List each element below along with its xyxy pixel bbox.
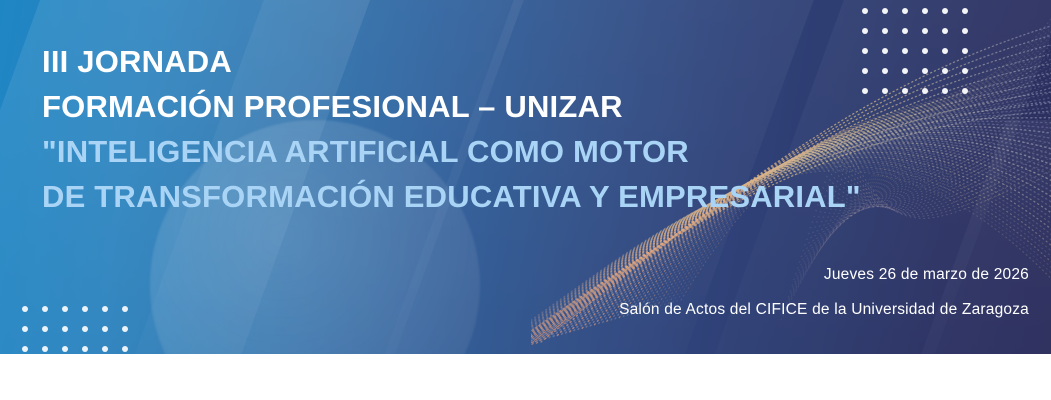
grid-dot <box>922 28 928 34</box>
grid-dot <box>22 306 28 312</box>
grid-dot <box>962 28 968 34</box>
grid-dot <box>42 306 48 312</box>
event-venue: Salón de Actos del CIFICE de la Universi… <box>619 301 1029 319</box>
grid-dot <box>902 28 908 34</box>
headline-line-2: FORMACIÓN PROFESIONAL – UNIZAR <box>42 91 861 122</box>
event-poster: III JORNADA FORMACIÓN PROFESIONAL – UNIZ… <box>0 0 1051 400</box>
grid-dot <box>862 88 868 94</box>
grid-dot <box>942 68 948 74</box>
grid-dot <box>122 346 128 352</box>
dot-grid-bottom-left <box>22 306 142 354</box>
grid-dot <box>862 28 868 34</box>
grid-dot <box>902 8 908 14</box>
grid-dot <box>962 68 968 74</box>
grid-dot <box>62 346 68 352</box>
grid-dot <box>962 88 968 94</box>
grid-dot <box>922 68 928 74</box>
grid-dot <box>902 88 908 94</box>
grid-dot <box>862 8 868 14</box>
grid-dot <box>962 8 968 14</box>
grid-dot <box>22 346 28 352</box>
grid-dot <box>102 326 108 332</box>
grid-dot <box>42 346 48 352</box>
grid-dot <box>862 68 868 74</box>
grid-dot <box>942 8 948 14</box>
wave-line <box>836 147 1051 212</box>
grid-dot <box>122 306 128 312</box>
grid-dot <box>922 48 928 54</box>
grid-dot <box>42 326 48 332</box>
grid-dot <box>902 68 908 74</box>
poster-headline: III JORNADA FORMACIÓN PROFESIONAL – UNIZ… <box>42 46 861 226</box>
grid-dot <box>922 88 928 94</box>
grid-dot <box>942 48 948 54</box>
dot-grid-top-right <box>862 8 982 108</box>
sponsor-footer: Organiza cpi'fp <box>0 354 1051 400</box>
headline-line-3: "INTELIGENCIA ARTIFICIAL COMO MOTOR <box>42 136 861 167</box>
grid-dot <box>922 8 928 14</box>
grid-dot <box>942 28 948 34</box>
grid-dot <box>882 68 888 74</box>
grid-dot <box>882 48 888 54</box>
grid-dot <box>902 48 908 54</box>
poster-banner: III JORNADA FORMACIÓN PROFESIONAL – UNIZ… <box>0 0 1051 354</box>
grid-dot <box>82 326 88 332</box>
grid-dot <box>942 88 948 94</box>
grid-dot <box>882 8 888 14</box>
grid-dot <box>82 346 88 352</box>
grid-dot <box>62 326 68 332</box>
grid-dot <box>882 28 888 34</box>
grid-dot <box>122 326 128 332</box>
grid-dot <box>82 306 88 312</box>
grid-dot <box>22 326 28 332</box>
wave-line <box>834 152 1051 211</box>
headline-line-4: DE TRANSFORMACIÓN EDUCATIVA Y EMPRESARIA… <box>42 181 861 212</box>
event-date: Jueves 26 de marzo de 2026 <box>824 266 1029 284</box>
grid-dot <box>962 48 968 54</box>
headline-line-1: III JORNADA <box>42 46 861 77</box>
grid-dot <box>62 306 68 312</box>
grid-dot <box>102 306 108 312</box>
grid-dot <box>862 48 868 54</box>
grid-dot <box>102 346 108 352</box>
grid-dot <box>882 88 888 94</box>
